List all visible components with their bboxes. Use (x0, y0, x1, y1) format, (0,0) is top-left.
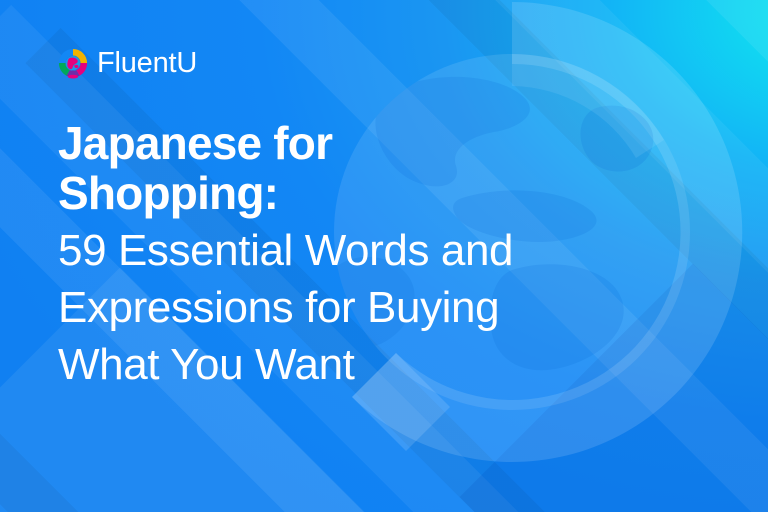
subheadline-line-3: What You Want (58, 336, 712, 393)
page-subtitle: 59 Essential Words and Expressions for B… (58, 222, 712, 393)
page-title: Japanese for Shopping: (58, 118, 478, 218)
brand-name-label: FluentU (97, 49, 197, 78)
hero-content: FluentU Japanese for Shopping: 59 Essent… (0, 0, 768, 393)
headline-line-2: Shopping: (58, 167, 278, 219)
globe-icon (58, 48, 88, 79)
subheadline-line-2: Expressions for Buying (58, 279, 712, 336)
brand-logo[interactable]: FluentU (58, 44, 712, 82)
headline-line-1: Japanese for (58, 117, 332, 169)
article-hero-banner: FluentU Japanese for Shopping: 59 Essent… (0, 0, 768, 512)
subheadline-line-1: 59 Essential Words and (58, 222, 712, 279)
